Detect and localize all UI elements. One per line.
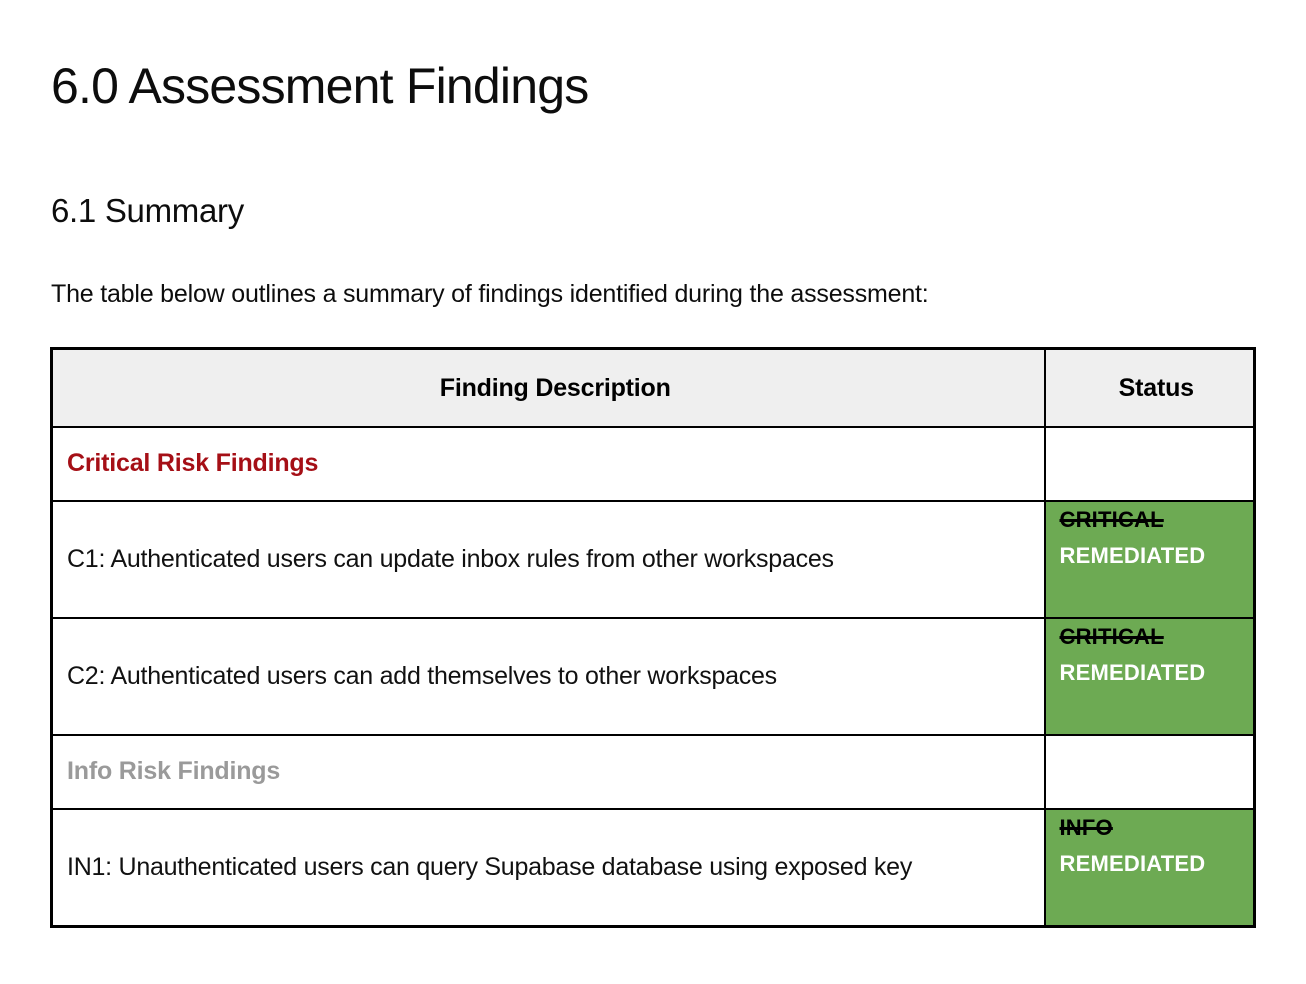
status-stack: INFO REMEDIATED xyxy=(1046,810,1254,881)
severity-label-struck: INFO xyxy=(1060,810,1254,846)
subsection-title: 6.1 Summary xyxy=(51,192,244,230)
status-stack: CRITICAL REMEDIATED xyxy=(1046,619,1254,690)
finding-description-c1: C1: Authenticated users can update inbox… xyxy=(53,538,1044,581)
status-badge: REMEDIATED xyxy=(1060,655,1254,691)
column-header-status-label: Status xyxy=(1046,374,1254,403)
findings-table-container: Finding Description Status Critical Risk… xyxy=(50,347,1253,928)
severity-label-struck: CRITICAL xyxy=(1060,502,1254,538)
table-row: Info Risk Findings xyxy=(52,735,1255,809)
table-header-row: Finding Description Status xyxy=(52,349,1255,428)
group-label-critical: Critical Risk Findings xyxy=(53,450,1044,478)
group-header-cell-critical: Critical Risk Findings xyxy=(52,427,1045,501)
finding-status-cell-c2: CRITICAL REMEDIATED xyxy=(1045,618,1255,735)
table-row: C1: Authenticated users can update inbox… xyxy=(52,501,1255,618)
findings-table: Finding Description Status Critical Risk… xyxy=(50,347,1256,928)
finding-status-cell-c1: CRITICAL REMEDIATED xyxy=(1045,501,1255,618)
column-header-status: Status xyxy=(1045,349,1255,428)
table-row: C2: Authenticated users can add themselv… xyxy=(52,618,1255,735)
severity-label-struck: CRITICAL xyxy=(1060,619,1254,655)
group-status-cell-critical xyxy=(1045,427,1255,501)
finding-status-cell-in1: INFO REMEDIATED xyxy=(1045,809,1255,927)
group-status-cell-info xyxy=(1045,735,1255,809)
finding-description-cell: C1: Authenticated users can update inbox… xyxy=(52,501,1045,618)
group-label-info: Info Risk Findings xyxy=(53,758,1044,786)
status-badge: REMEDIATED xyxy=(1060,846,1254,882)
column-header-description: Finding Description xyxy=(52,349,1045,428)
table-row: Critical Risk Findings xyxy=(52,427,1255,501)
status-badge: REMEDIATED xyxy=(1060,538,1254,574)
column-header-description-label: Finding Description xyxy=(53,374,1044,403)
finding-description-cell: IN1: Unauthenticated users can query Sup… xyxy=(52,809,1045,927)
document-page: 6.0 Assessment Findings 6.1 Summary The … xyxy=(0,0,1306,984)
finding-description-cell: C2: Authenticated users can add themselv… xyxy=(52,618,1045,735)
finding-description-in1: IN1: Unauthenticated users can query Sup… xyxy=(53,846,1044,889)
page-title: 6.0 Assessment Findings xyxy=(51,58,588,114)
intro-paragraph: The table below outlines a summary of fi… xyxy=(51,278,929,311)
finding-description-c2: C2: Authenticated users can add themselv… xyxy=(53,655,1044,698)
group-header-cell-info: Info Risk Findings xyxy=(52,735,1045,809)
table-row: IN1: Unauthenticated users can query Sup… xyxy=(52,809,1255,927)
status-stack: CRITICAL REMEDIATED xyxy=(1046,502,1254,573)
